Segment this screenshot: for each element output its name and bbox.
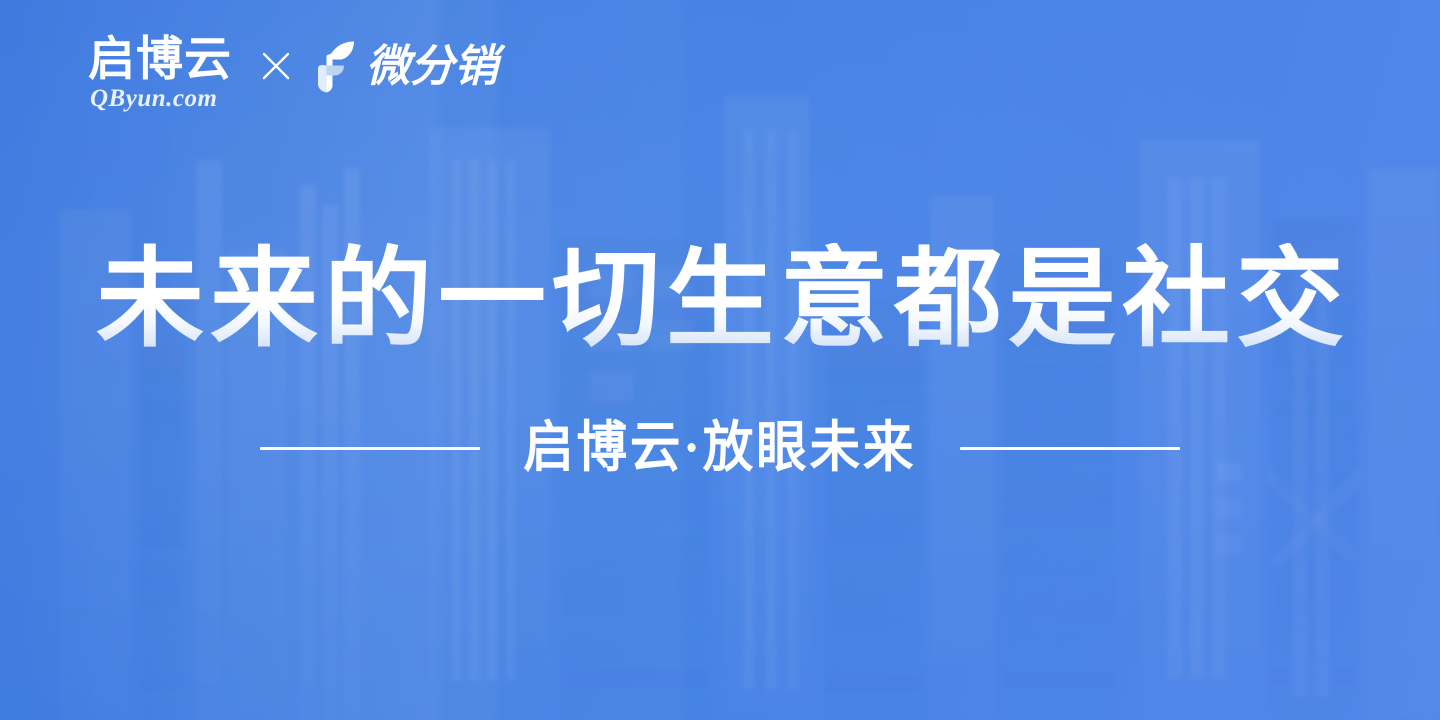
secondary-brand[interactable]: 微分销	[314, 41, 498, 93]
brand-name-weifenxiao: 微分销	[366, 45, 498, 89]
primary-brand[interactable]: 启博云 QByun.com	[88, 34, 232, 111]
hero-subtitle: 启博云·放眼未来	[523, 418, 916, 479]
wfx-leaf-f-icon	[314, 41, 356, 93]
subtitle-rule-left	[260, 447, 480, 450]
brand-name-qibo-cloud: 启博云	[88, 34, 232, 83]
brand-logo-lockup[interactable]: 启博云 QByun.com 微分销	[88, 34, 498, 111]
subtitle-rule-right	[960, 447, 1180, 450]
hero-headline: 未来的一切生意都是社交	[0, 243, 1440, 360]
promo-banner: 启博云 QByun.com 微分销 未来的一切生意都是社交 启博云·放眼	[0, 0, 1440, 720]
hero-subtitle-row: 启博云·放眼未来	[0, 418, 1440, 479]
brand-domain-text: QByun.com	[90, 86, 217, 111]
multiply-separator-icon	[256, 46, 296, 86]
